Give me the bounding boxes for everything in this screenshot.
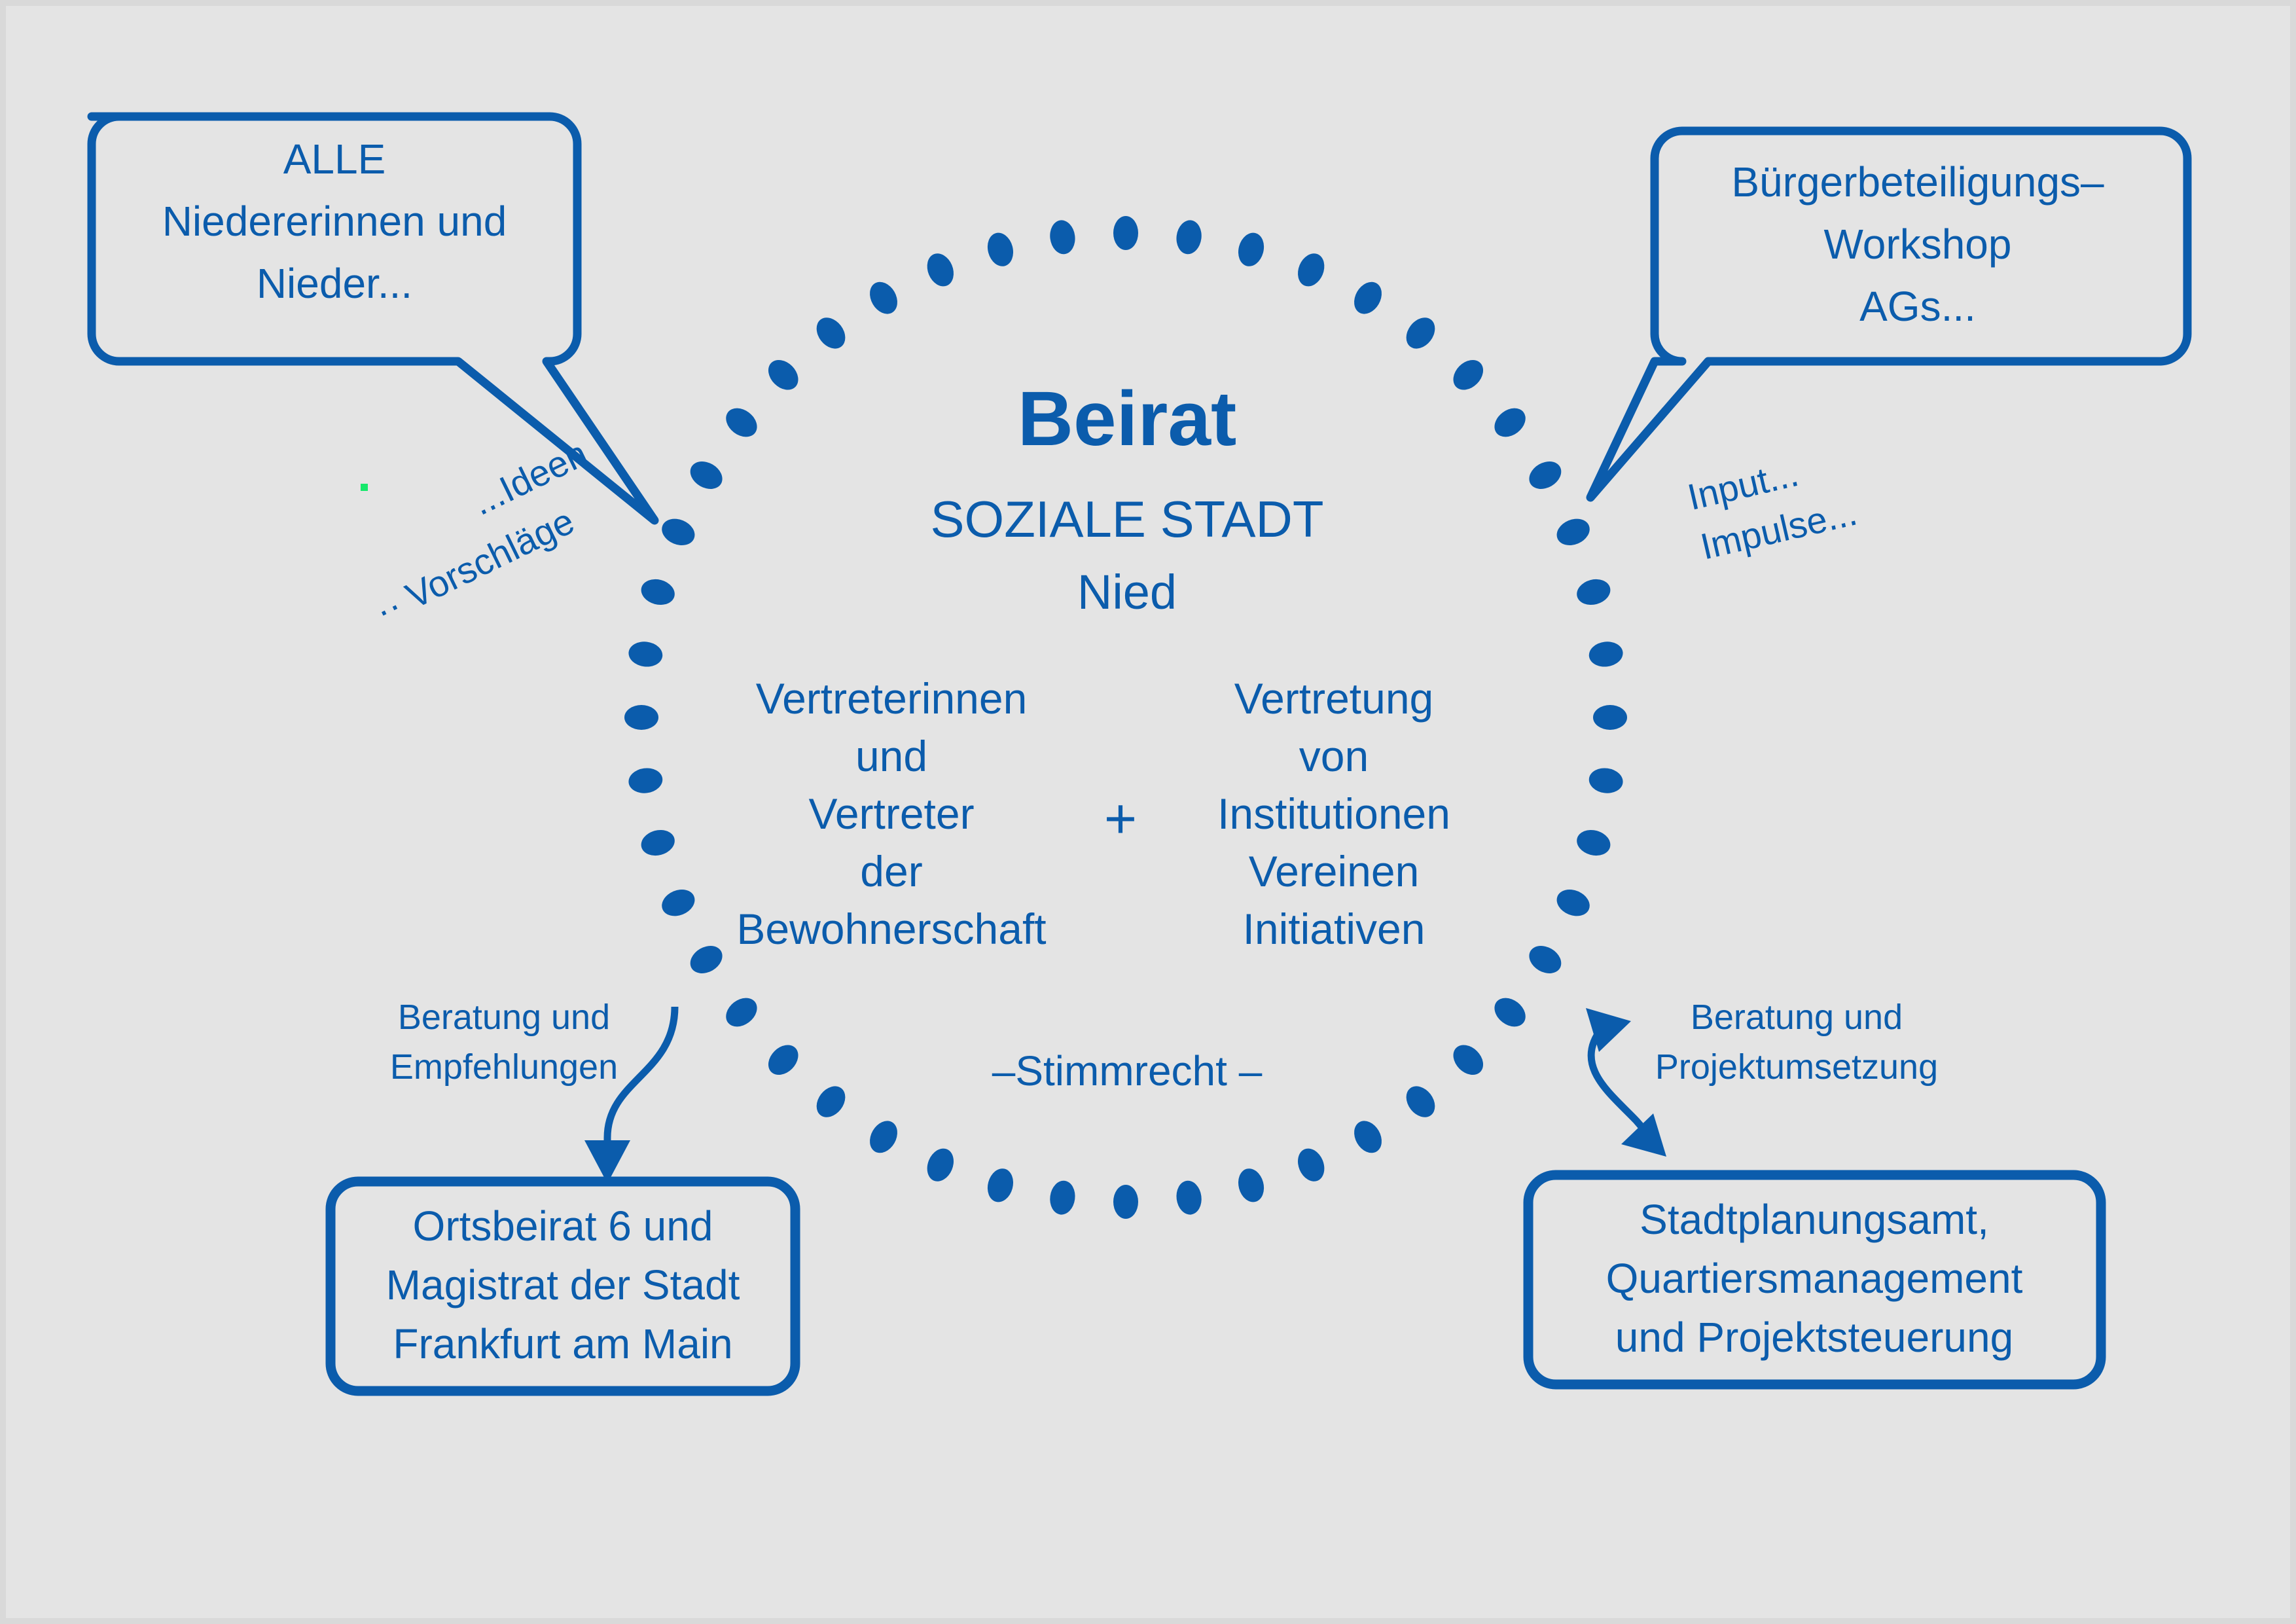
circle-dot — [1552, 514, 1594, 550]
bubble-left-line-2: Niedererinnen und — [162, 198, 507, 245]
box-br-line-3: und Projektsteuerung — [1615, 1314, 2013, 1361]
center-right-column: Vertretung von Institutionen Vereinen In… — [1217, 674, 1450, 953]
left-col-line-1: Vertreterinnen — [756, 674, 1028, 723]
circle-dot — [1552, 885, 1594, 921]
circle-dot — [1349, 277, 1388, 319]
stimmrecht-label: –Stimmrecht – — [992, 1047, 1263, 1094]
circle-dot — [1234, 1166, 1267, 1205]
circle-dot — [1113, 216, 1138, 250]
center-content: Beirat SOZIALE STADT Nied Vertreterinnen… — [736, 376, 1450, 1094]
bubble-right-line-3: AGs... — [1859, 283, 1976, 330]
circle-dot — [638, 826, 677, 859]
circle-dot — [1234, 230, 1267, 269]
circle-dot — [624, 705, 658, 730]
circle-dot — [1447, 354, 1489, 396]
box-bl-line-1: Ortsbeirat 6 und — [413, 1202, 713, 1250]
circle-dot — [658, 514, 699, 550]
circle-dot — [865, 1116, 903, 1158]
circle-dot — [1447, 1039, 1489, 1081]
flow-left-label-2: Empfehlungen — [390, 1047, 618, 1087]
beirat-diagram: ALLE Niedererinnen und Nieder... Bürgerb… — [0, 0, 2296, 1624]
bubble-right-line-1: Bürgerbeteiligungs– — [1731, 158, 2104, 206]
circle-dot — [658, 885, 699, 921]
circle-dot — [1048, 219, 1077, 256]
bubble-right-line-2: Workshop — [1824, 221, 2012, 268]
circle-dot — [1587, 766, 1624, 795]
diag-left-line-1: ...Ideen — [465, 433, 594, 524]
box-bl-line-2: Magistrat der Stadt — [386, 1261, 740, 1308]
box-br-line-1: Stadtplanungsamt, — [1640, 1196, 1989, 1243]
circle-dot — [1593, 705, 1627, 730]
center-subtitle-1: SOZIALE STADT — [931, 490, 1324, 548]
circle-dot — [762, 354, 804, 396]
left-col-line-2: und — [855, 732, 927, 780]
flow-right-label-2: Projektumsetzung — [1655, 1047, 1938, 1087]
circle-dot — [922, 249, 958, 291]
circle-dot — [638, 575, 677, 608]
right-col-line-2: von — [1299, 732, 1369, 780]
circle-dot — [1401, 1081, 1441, 1123]
left-col-line-3: Vertreter — [808, 789, 974, 838]
circle-dot — [721, 992, 762, 1033]
center-title: Beirat — [1018, 376, 1236, 462]
circle-dot — [865, 277, 903, 319]
box-bottom-right[interactable]: Stadtplanungsamt, Quartiersmanagement un… — [1528, 1175, 2101, 1384]
circle-dot — [1174, 1179, 1203, 1216]
box-bottom-left[interactable]: Ortsbeirat 6 und Magistrat der Stadt Fra… — [331, 1182, 795, 1391]
box-br-line-2: Quartiersmanagement — [1606, 1255, 2023, 1302]
center-left-column: Vertreterinnen und Vertreter der Bewohne… — [736, 674, 1046, 953]
flow-right-label-1: Beratung und — [1691, 998, 1903, 1037]
diagram-canvas: ALLE Niedererinnen und Nieder... Bürgerb… — [0, 0, 2296, 1624]
flow-arrow-right: Beratung und Projektumsetzung — [1586, 998, 1938, 1157]
circle-dot — [1293, 249, 1329, 291]
right-col-line-1: Vertretung — [1234, 674, 1434, 723]
circle-dot — [1489, 403, 1531, 443]
plus-operator: + — [1104, 787, 1137, 850]
circle-dot — [811, 312, 852, 354]
circle-dot — [984, 1166, 1016, 1205]
circle-dot — [1293, 1144, 1329, 1185]
circle-dot — [1048, 1179, 1077, 1216]
left-col-line-4: der — [860, 847, 922, 895]
circle-dot — [1489, 992, 1531, 1033]
circle-dot — [1574, 575, 1613, 608]
circle-dot — [1401, 312, 1441, 354]
diagonal-label-right: Input... Impulse... — [1684, 442, 1861, 568]
circle-dot — [1113, 1185, 1138, 1219]
circle-dot — [721, 403, 762, 443]
circle-dot — [685, 456, 727, 495]
circle-dot — [984, 230, 1016, 269]
green-speck-artifact — [361, 484, 368, 491]
circle-dot — [811, 1081, 852, 1123]
circle-dot — [1574, 826, 1613, 859]
circle-dot — [762, 1039, 804, 1081]
circle-dot — [1587, 640, 1624, 668]
box-bl-line-3: Frankfurt am Main — [393, 1320, 732, 1367]
diag-left-line-2: ·· Vorschläge — [368, 500, 581, 632]
circle-dot — [627, 766, 664, 795]
circle-dot — [685, 941, 727, 979]
circle-dot — [1349, 1116, 1388, 1158]
speech-bubble-top-right[interactable]: Bürgerbeteiligungs– Workshop AGs... — [1590, 131, 2187, 497]
circle-dot — [1524, 941, 1566, 979]
left-col-line-5: Bewohnerschaft — [736, 905, 1046, 953]
right-col-line-5: Initiativen — [1243, 905, 1426, 953]
circle-dot — [1524, 456, 1566, 495]
right-col-line-3: Institutionen — [1217, 789, 1450, 838]
bubble-left-line-3: Nieder... — [257, 260, 412, 307]
flow-left-label-1: Beratung und — [398, 998, 610, 1037]
circle-dot — [922, 1144, 958, 1185]
bubble-left-line-1: ALLE — [283, 135, 386, 183]
circle-dot — [627, 640, 664, 668]
diagonal-label-left: ...Ideen ·· Vorschläge — [344, 433, 618, 632]
circle-dot — [1174, 219, 1203, 256]
flow-arrow-left: Beratung und Empfehlungen — [390, 998, 675, 1183]
right-col-line-4: Vereinen — [1249, 847, 1420, 895]
flow-arrow-right-head-down — [1621, 1113, 1666, 1157]
center-subtitle-2: Nied — [1077, 565, 1177, 619]
